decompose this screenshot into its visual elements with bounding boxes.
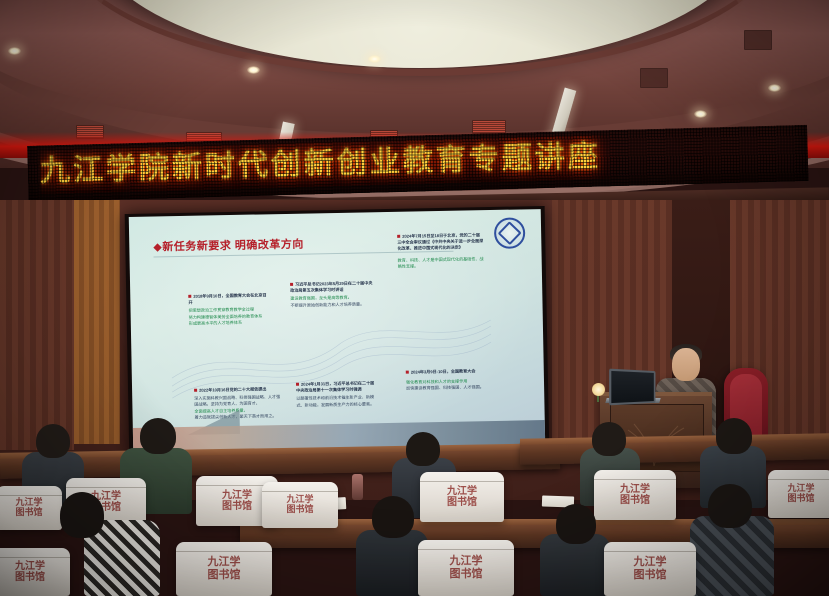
chair-cover-line1: 九江学 xyxy=(15,561,45,573)
chair-cover-line1: 九江学 xyxy=(787,484,814,494)
emblem-inner-shape xyxy=(498,221,522,245)
slide-box-body: 以颠覆性技术和前沿技术催生新产业、新模式、新动能，发展新质生产力的核心要素。 xyxy=(296,395,378,409)
slide-box-heading: 2024年7月15日至18日于北京，党的二十届三中全会审议通过《中共中央关于进一… xyxy=(397,232,483,252)
chair-cover-text: 九江学 图书馆 xyxy=(768,470,829,518)
chair-cover-line2: 图书馆 xyxy=(222,501,252,513)
chair-cover: 九江学 图书馆 xyxy=(0,548,70,596)
presenter-head xyxy=(672,348,700,381)
chair-cover-text: 九江学 图书馆 xyxy=(594,470,676,520)
chair-cover-line2: 图书馆 xyxy=(620,495,650,507)
chair-cover-line2: 图书馆 xyxy=(447,497,477,509)
slide-box-2018: 2018年9月10日，全国教育大会在北京召开 把思想政治工作贯穿教育教学全过程 … xyxy=(188,292,271,327)
audience-member-head xyxy=(592,422,626,456)
slide-box-heading: 2018年9月10日，全国教育大会在北京召开 xyxy=(188,292,270,306)
wall-wood-panel xyxy=(0,200,74,450)
slide-box-2024-03: 2024年3月9日-10日，全国教育大会 强化教育对科技和人才的支撑作用 加快建… xyxy=(406,368,490,392)
square-bullet-icon xyxy=(290,283,293,286)
chair-cover-line1: 九江学 xyxy=(447,486,477,498)
slide-box-2024-01: 2024年1月31日，习近平总书记在二十届中央政治局第十一次集体学习时强调 以颠… xyxy=(296,380,378,408)
slide-box-2023: 习近平总书记2023年5月29日在二十届中央政治局第五次集体学习时讲话 建设教育… xyxy=(290,280,374,308)
slide-box-heading: 习近平总书记2023年5月29日在二十届中央政治局第五次集体学习时讲话 xyxy=(290,280,374,294)
audience-member-head xyxy=(556,504,596,544)
downlight-icon xyxy=(768,84,781,92)
audience-member-head xyxy=(60,492,104,538)
chair-cover: 九江学 图书馆 xyxy=(594,470,676,520)
chair-cover-text: 九江学 图书馆 xyxy=(262,482,338,528)
chair-cover-line1: 九江学 xyxy=(620,484,650,496)
chair-cover: 九江学 图书馆 xyxy=(604,542,696,596)
chair-cover: 九江学 图书馆 xyxy=(420,472,504,522)
downlight-icon xyxy=(247,66,260,74)
chair-cover-line1: 九江学 xyxy=(222,490,252,502)
chair-cover: 九江学 图书馆 xyxy=(262,482,338,528)
chair-cover: 九江学 图书馆 xyxy=(0,486,62,530)
square-bullet-icon xyxy=(296,383,299,386)
chair-cover-text: 九江学 图书馆 xyxy=(604,542,696,596)
square-bullet-icon xyxy=(188,295,191,298)
chair-cover-line2: 图书馆 xyxy=(787,494,814,504)
chair-cover-line2: 图书馆 xyxy=(286,505,313,515)
chair-cover-line2: 图书馆 xyxy=(15,508,42,518)
downlight-icon xyxy=(694,110,707,118)
chair-cover-line2: 图书馆 xyxy=(208,569,241,582)
square-bullet-icon xyxy=(194,389,197,392)
chair-cover-line1: 九江学 xyxy=(15,498,42,508)
chair-cover-text: 九江学 图书馆 xyxy=(420,472,504,522)
ceiling-vent-dark xyxy=(640,68,668,88)
chair-cover-line2: 图书馆 xyxy=(634,569,667,582)
square-bullet-icon xyxy=(406,371,409,374)
chair-cover: 九江学 图书馆 xyxy=(176,542,272,596)
chair-cover-text: 九江学 图书馆 xyxy=(176,542,272,596)
auditorium-photo: 九江学院新时代创新创业教育专题讲座 ◆新任务新要求 明确改革方向 20 xyxy=(0,0,829,596)
slide-box-heading: 2022年10月16日党的二十大报告提出 xyxy=(194,386,280,394)
wall-wood-panel-warm xyxy=(74,200,120,444)
audience-member-torso xyxy=(690,516,774,596)
audience-member-head xyxy=(708,484,752,528)
downlight-icon xyxy=(368,55,381,63)
laptop-screen xyxy=(609,369,655,406)
chair-cover: 九江学 图书馆 xyxy=(768,470,829,518)
thermos-bottle xyxy=(352,474,363,500)
chair-cover-line1: 九江学 xyxy=(286,495,313,505)
chair-cover-text: 九江学 图书馆 xyxy=(0,548,70,596)
audience-member-head xyxy=(406,432,440,466)
chair-cover: 九江学 图书馆 xyxy=(418,540,514,596)
audience-member-head xyxy=(140,418,176,454)
downlight-icon xyxy=(8,47,21,55)
chair-cover-text: 九江学 图书馆 xyxy=(418,540,514,596)
chair-cover-line2: 图书馆 xyxy=(450,568,483,581)
projection-screen: ◆新任务新要求 明确改革方向 2018年9月10日，全国教育大会在北京召开 把思… xyxy=(129,209,545,454)
ceiling-vent-dark xyxy=(744,30,772,50)
audience-member-head xyxy=(716,418,752,454)
audience-member-head xyxy=(36,424,70,458)
audience-member-head xyxy=(372,496,414,538)
chair-cover-text: 九江学 图书馆 xyxy=(0,486,62,530)
slide-title: ◆新任务新要求 明确改革方向 xyxy=(153,236,304,255)
slide-box-2024-07: 2024年7月15日至18日于北京，党的二十届三中全会审议通过《中共中央关于进一… xyxy=(397,232,484,270)
slide-box-green-line: 教育、科技、人才是中国式现代化的基础性、战略性支撑。 xyxy=(398,256,484,270)
square-bullet-icon xyxy=(397,235,400,238)
flower-arrangement xyxy=(592,383,605,396)
chair-cover-line2: 图书馆 xyxy=(15,572,45,584)
slide-box-heading: 2024年3月9日-10日，全国教育大会 xyxy=(406,368,490,376)
slide-box-heading: 2024年1月31日，习近平总书记在二十届中央政治局第十一次集体学习时强调 xyxy=(296,380,378,394)
